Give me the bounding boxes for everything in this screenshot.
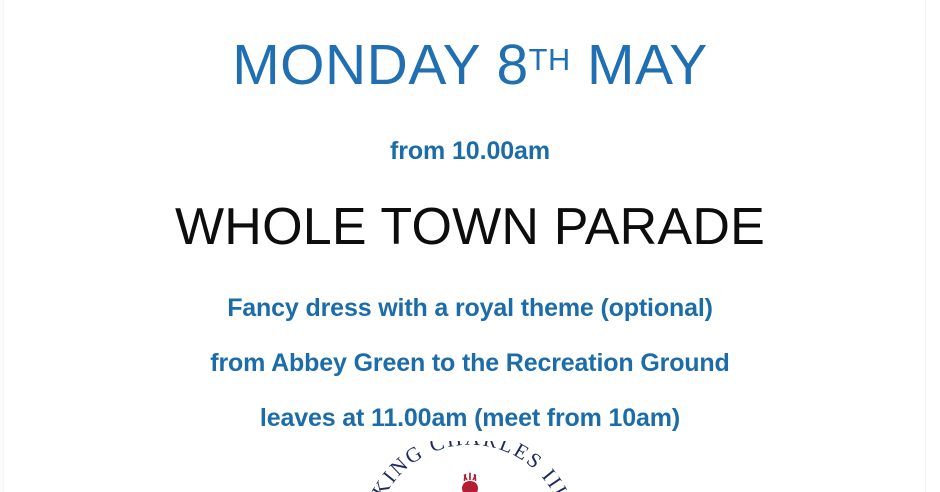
thistle-motif xyxy=(449,473,491,492)
event-detail-line: leaves at 11.00am (meet from 10am) xyxy=(0,402,940,434)
event-date-ordinal: TH xyxy=(529,42,571,77)
coronation-emblem-icon: KING CHARLES III xyxy=(365,441,575,492)
event-date-suffix: MAY xyxy=(571,33,708,97)
poster-canvas: MONDAY 8TH MAY from 10.00am WHOLE TOWN P… xyxy=(0,0,940,492)
event-detail-line: from Abbey Green to the Recreation Groun… xyxy=(0,347,940,379)
king-charles-coronation-emblem: KING CHARLES III xyxy=(365,441,575,492)
page-title: WHOLE TOWN PARADE xyxy=(0,197,940,257)
event-detail-line: Fancy dress with a royal theme (optional… xyxy=(0,292,940,324)
event-date-headline: MONDAY 8TH MAY xyxy=(0,33,940,106)
event-date-prefix: MONDAY 8 xyxy=(232,33,528,97)
event-start-time: from 10.00am xyxy=(0,136,940,166)
